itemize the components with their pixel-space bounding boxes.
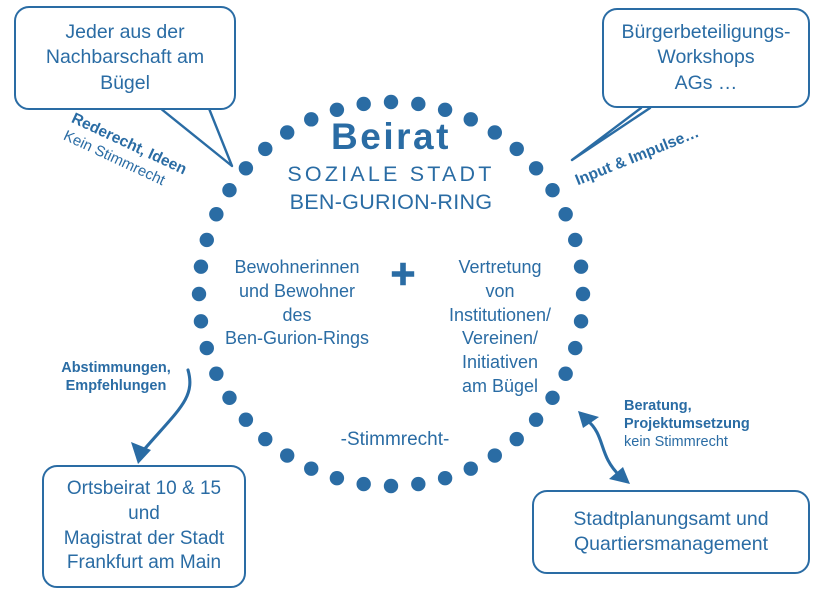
box-ortsbeirat-text: Ortsbeirat 10 & 15 und Magistrat der Sta…	[58, 477, 231, 576]
box-stadtplanungsamt-line-2: Quartiersmanagement	[574, 533, 768, 555]
diagram-canvas: Beirat SOZIALE STADT BEN-GURION-RING Bew…	[0, 0, 820, 600]
box-ortsbeirat-line-3: Magistrat der Stadt	[64, 528, 225, 549]
box-stadtplanungsamt-line-1: Stadtplanungsamt und	[573, 508, 768, 530]
label-beratung-projektumsetzung: Beratung, Projektumsetzung kein Stimmrec…	[624, 398, 794, 452]
box-stadtplanungsamt-text: Stadtplanungsamt und Quartiersmanagement	[567, 507, 774, 558]
box-ortsbeirat-line-2: und	[128, 503, 160, 524]
label-beratung-line-3: kein Stimmrecht	[624, 434, 794, 452]
box-ortsbeirat-line-4: Frankfurt am Main	[67, 552, 221, 573]
bubble-neighborhood[interactable]: Jeder aus der Nachbarschaft am Bügel	[14, 6, 236, 110]
bubble-citizen-participation-text: Bürgerbeteiligungs- Workshops AGs …	[615, 20, 796, 96]
bubble-neighborhood-line-2: Nachbarschaft am	[46, 46, 204, 68]
bubble-citizen-participation-line-2: Workshops	[657, 46, 754, 68]
box-stadtplanungsamt[interactable]: Stadtplanungsamt und Quartiersmanagement	[532, 490, 810, 574]
bubble-neighborhood-line-3: Bügel	[100, 72, 150, 94]
bubble-citizen-participation[interactable]: Bürgerbeteiligungs- Workshops AGs …	[602, 8, 810, 108]
arrowhead-to-ring	[578, 411, 599, 428]
label-abstimmungen-line-1: Abstimmungen,	[61, 360, 171, 376]
label-beratung-line-1: Beratung,	[624, 398, 794, 416]
bubble-citizen-participation-line-1: Bürgerbeteiligungs-	[621, 21, 790, 43]
box-ortsbeirat-magistrat[interactable]: Ortsbeirat 10 & 15 und Magistrat der Sta…	[42, 465, 246, 588]
label-abstimmungen-line-2: Empfehlungen	[66, 378, 167, 394]
arrow-stadtplanungsamt	[587, 420, 620, 476]
label-abstimmungen-empfehlungen: Abstimmungen, Empfehlungen	[36, 360, 196, 396]
box-ortsbeirat-line-1: Ortsbeirat 10 & 15	[67, 478, 221, 499]
bubble-citizen-participation-line-3: AGs …	[675, 72, 738, 94]
label-beratung-line-2: Projektumsetzung	[624, 416, 794, 434]
bubble-neighborhood-text: Jeder aus der Nachbarschaft am Bügel	[40, 20, 210, 96]
bubble-neighborhood-line-1: Jeder aus der	[65, 21, 184, 43]
